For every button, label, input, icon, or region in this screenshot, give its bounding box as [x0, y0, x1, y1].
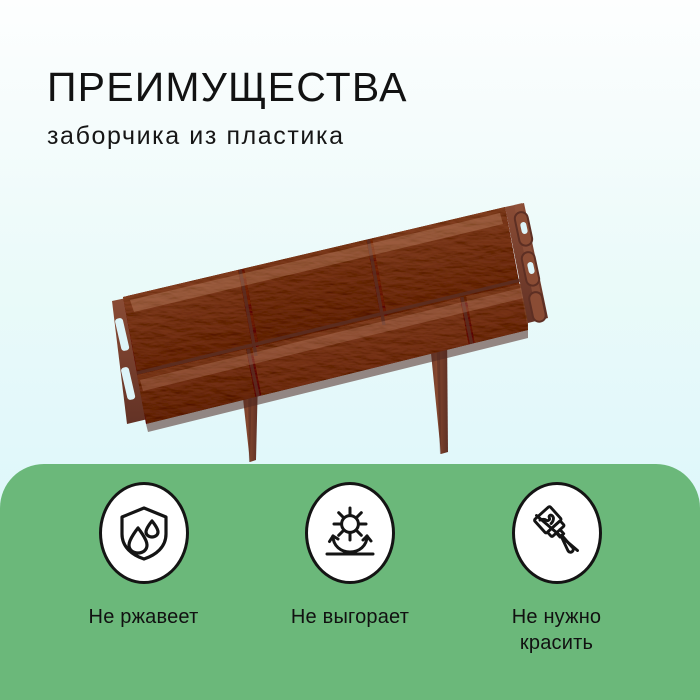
feature-icon-badge [305, 482, 395, 584]
headline-block: ПРЕИМУЩЕСТВА заборчика из пластика [47, 66, 647, 151]
fence-right-connector [505, 203, 548, 323]
no-paint-brush-icon [528, 504, 586, 562]
page-subtitle: заборчика из пластика [47, 123, 647, 151]
feature-icon-badge [99, 482, 189, 584]
feature-label: Не ржавеет [89, 604, 199, 630]
fence-left-connector [112, 295, 155, 424]
fence-assembly [112, 203, 548, 462]
features-row: Не ржавеет [0, 464, 700, 700]
page-title: ПРЕИМУЩЕСТВА [47, 66, 647, 109]
sun-uv-reflect-icon [321, 504, 379, 562]
shield-water-drop-icon [116, 504, 172, 562]
features-panel: Не ржавеет [0, 464, 700, 700]
fence-face [123, 207, 534, 432]
feature-no-painting[interactable]: Не нужно красить [469, 482, 644, 700]
feature-icon-badge [512, 482, 602, 584]
fence-stakes [241, 330, 448, 462]
feature-no-rust[interactable]: Не ржавеет [56, 482, 231, 700]
feature-label: Не выгорает [291, 604, 409, 630]
poster-canvas: ПРЕИМУЩЕСТВА заборчика из пластика [0, 0, 700, 700]
feature-no-fading[interactable]: Не выгорает [263, 482, 438, 700]
feature-label: Не нужно красить [492, 604, 622, 657]
